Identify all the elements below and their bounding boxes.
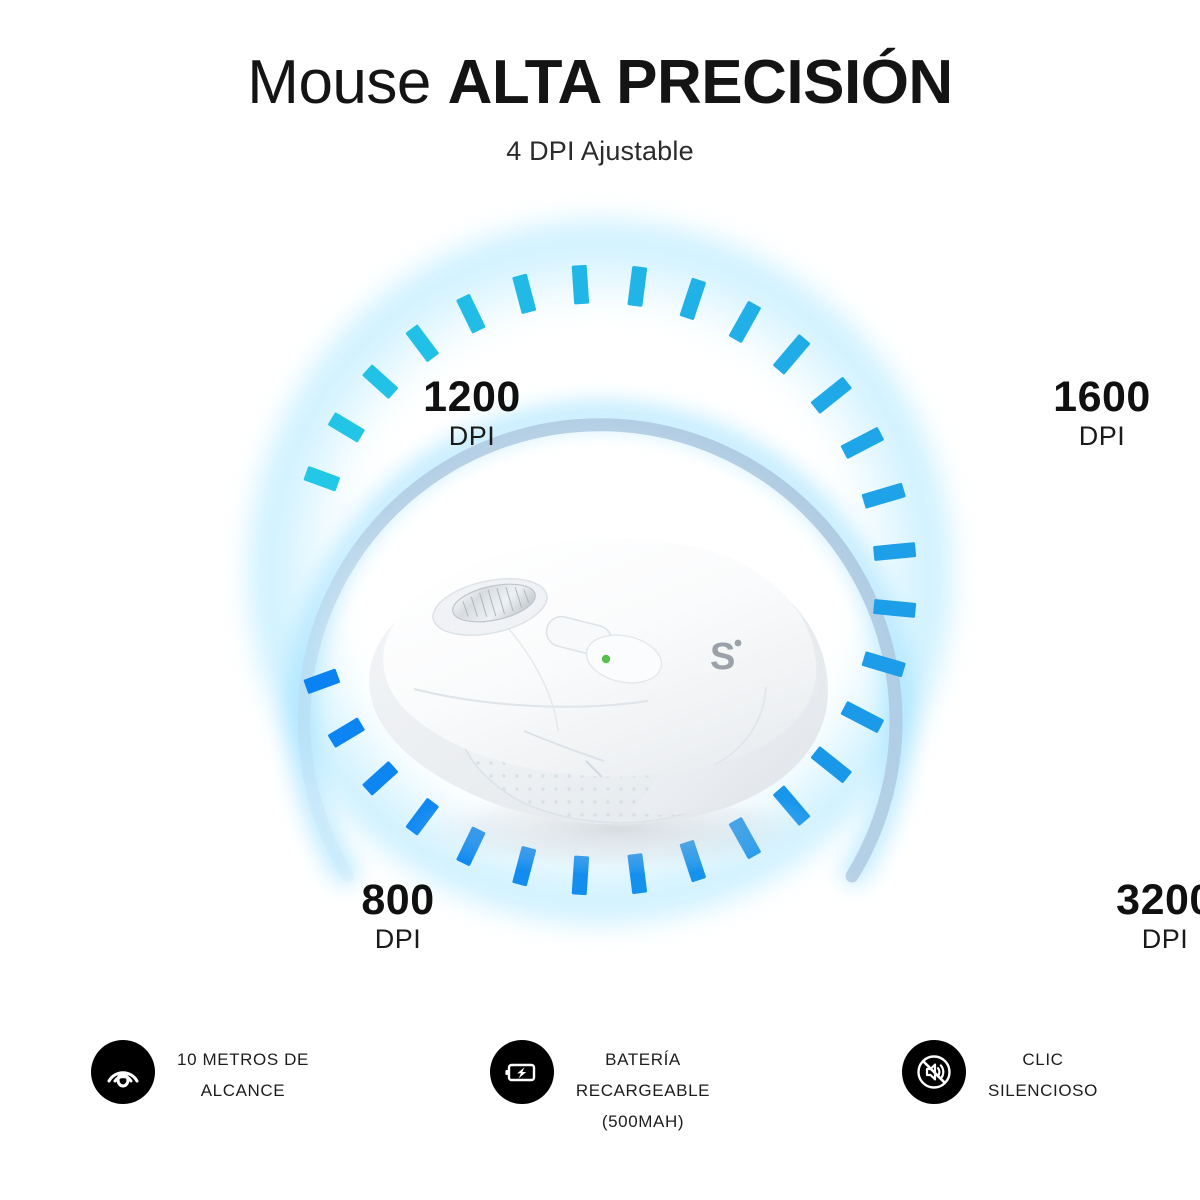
dpi-value: 3200 [1070,877,1200,923]
dial-tick [328,412,366,443]
mute-speaker-icon [902,1040,966,1104]
dial-tick [456,294,486,334]
dpi-unit: DPI [303,923,493,955]
dpi-label-1600: 1600 DPI [1007,374,1197,452]
feature-label: CLIC SILENCIOSO [988,1040,1098,1106]
page-title: Mouse ALTA PRECISIÓN [0,46,1200,120]
feature-item: BATERÍA RECARGEABLE (500MAH) [400,1028,800,1137]
dpi-unit: DPI [1007,420,1197,452]
title-light-part: Mouse [247,48,447,117]
dial-tick [810,376,852,414]
dial-tick [728,301,761,344]
dial-tick [773,334,811,375]
dpi-unit: DPI [1070,923,1200,955]
dpi-value: 1600 [1007,374,1197,420]
feature-item: CLIC SILENCIOSO [800,1028,1200,1106]
rechargeable-battery-icon [490,1040,554,1104]
dial-tick [512,274,536,315]
svg-text:S: S [710,636,735,678]
led-indicator [602,655,610,663]
header: Mouse ALTA PRECISIÓN 4 DPI Ajustable [0,0,1200,168]
hero-section: 1200 DPI 1600 DPI 800 DPI 3200 DPI [0,205,1200,995]
product-image-mouse: S [318,473,878,893]
dial-tick [572,265,590,305]
mouse-illustration: S [318,473,878,893]
feature-label: BATERÍA RECARGEABLE (500MAH) [576,1040,710,1137]
dial-tick [679,278,706,321]
dial-tick [873,542,916,561]
dpi-label-3200: 3200 DPI [1070,877,1200,955]
feature-strip: 10 METROS DE ALCANCE BATERÍA RECARGEABLE… [0,1028,1200,1168]
dpi-value: 1200 [377,374,567,420]
dpi-unit: DPI [377,420,567,452]
feature-item: 10 METROS DE ALCANCE [0,1028,400,1106]
dpi-label-1200: 1200 DPI [377,374,567,452]
dial-tick [405,324,439,362]
feature-label: 10 METROS DE ALCANCE [177,1040,309,1106]
page-subtitle: 4 DPI Ajustable [0,134,1200,168]
title-bold-part: ALTA PRECISIÓN [448,48,953,117]
wireless-signal-icon [91,1040,155,1104]
dial-tick [840,427,884,460]
dial-tick [627,266,647,307]
